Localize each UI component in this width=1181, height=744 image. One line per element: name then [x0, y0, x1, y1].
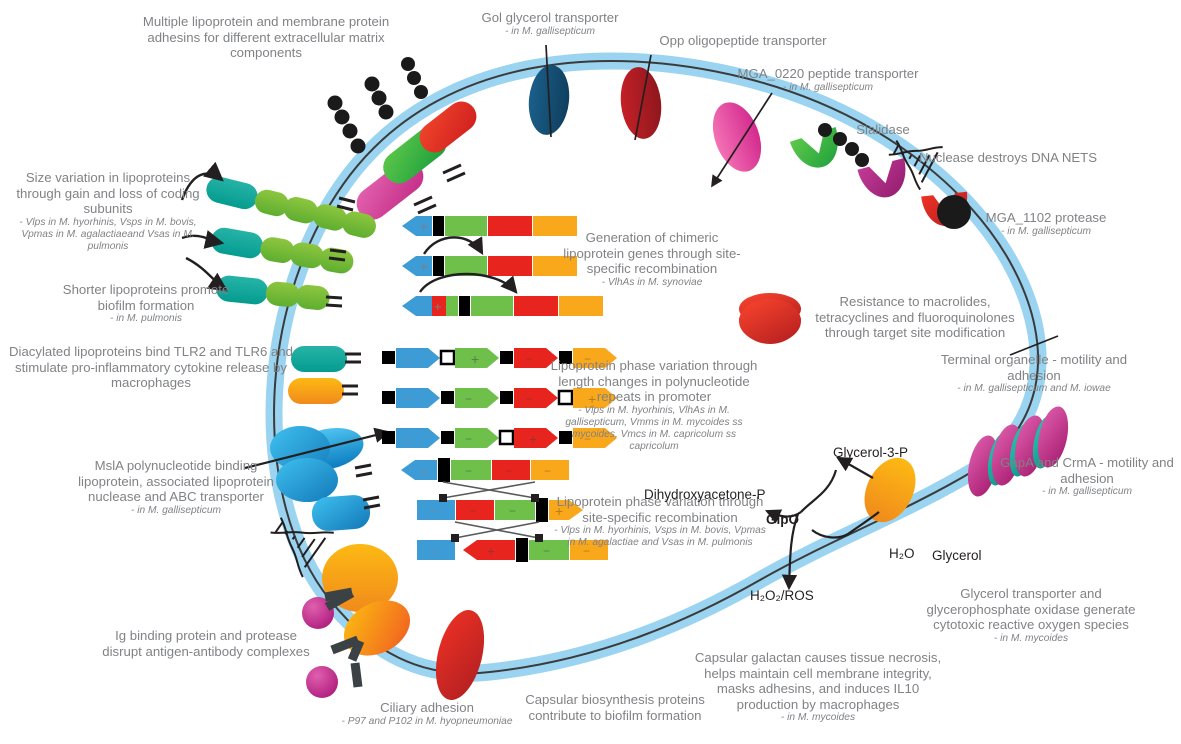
label-size-variation-title: Size variation in lipoproteins through g… — [12, 170, 204, 217]
label-diacylated-title: Diacylated lipoproteins bind TLR2 and TL… — [8, 344, 294, 391]
label-capsular-galactan-sub: - in M. mycoides — [690, 712, 946, 724]
label-phase-site-sub: - Vlps in M. hyorhinis, Vsps in M. bovis… — [552, 525, 768, 549]
label-adhesins-title: Multiple lipoprotein and membrane protei… — [142, 14, 390, 61]
label-gapa-crma: GapA and CrmA - motility and adhesion - … — [1000, 455, 1174, 498]
label-mga-0220-sub: - in M. gallisepticum — [722, 82, 934, 94]
svg-text:−: − — [543, 544, 550, 558]
label-mga-1102-sub: - in M. gallisepticum — [966, 226, 1126, 238]
svg-text:−: − — [509, 504, 516, 518]
figure-canvas: + + + — [0, 0, 1181, 744]
label-sialidase: Sialidase — [840, 122, 926, 138]
label-shorter-lipoproteins: Shorter lipoproteins promote biofilm for… — [56, 282, 236, 325]
label-capsular-galactan: Capsular galactan causes tissue necrosis… — [690, 650, 946, 724]
label-capsular-galactan-title: Capsular galactan causes tissue necrosis… — [690, 650, 946, 712]
label-mga-0220-title: MGA_0220 peptide transporter — [722, 66, 934, 82]
label-opp-transporter-title: Opp oligopeptide transporter — [650, 33, 836, 49]
label-terminal-organelle-title: Terminal organelle - motility and adhesi… — [940, 352, 1128, 383]
label-glycerol-transporter-title: Glycerol transporter and glycerophosphat… — [920, 586, 1142, 633]
label-resistance-title: Resistance to macrolides, tetracyclines … — [806, 294, 1024, 341]
label-msla-title: MslA polynucleotide binding lipoprotein,… — [70, 458, 282, 505]
svg-text:−: − — [469, 504, 476, 518]
enzyme-glpo: GlpO — [766, 512, 799, 527]
svg-text:−: − — [544, 464, 551, 478]
label-mga-1102: MGA_1102 protease - in M. gallisepticum — [966, 210, 1126, 238]
label-terminal-organelle: Terminal organelle - motility and adhesi… — [940, 352, 1128, 395]
label-phase-length-sub: - Vlps in M. hyorhinis, VlhAs in M. gall… — [546, 405, 762, 453]
label-capsular-biosynthesis: Capsular biosynthesis proteins contribut… — [510, 692, 720, 723]
label-gapa-crma-sub: - in M. gallisepticum — [1000, 486, 1174, 498]
label-chimeric-title: Generation of chimeric lipoprotein genes… — [560, 230, 744, 277]
label-gol-transporter-sub: - in M. gallisepticum — [466, 26, 634, 38]
label-ig-binding: Ig binding protein and protease disrupt … — [96, 628, 316, 659]
label-size-variation-sub: - Vlps in M. hyorhinis, Vsps in M. bovis… — [12, 217, 204, 253]
svg-text:+: + — [487, 543, 495, 559]
label-resistance: Resistance to macrolides, tetracyclines … — [806, 294, 1024, 341]
label-terminal-organelle-sub: - in M. gallisepticum and M. iowae — [940, 383, 1128, 395]
label-mga-1102-title: MGA_1102 protease — [966, 210, 1126, 226]
label-diacylated: Diacylated lipoproteins bind TLR2 and TL… — [8, 344, 294, 391]
label-phase-length-title: Lipoprotein phase variation through leng… — [546, 358, 762, 405]
svg-text:−: − — [505, 464, 512, 478]
svg-text:+: + — [420, 463, 428, 479]
label-ciliary-adhesion-sub: - P97 and P102 in M. hyopneumoniae — [320, 716, 534, 728]
molecule-glycerol-3p: Glycerol-3-P — [833, 445, 908, 460]
svg-text:−: − — [465, 464, 472, 478]
label-mga-0220: MGA_0220 peptide transporter - in M. gal… — [722, 66, 934, 94]
label-gol-transporter: Gol glycerol transporter - in M. gallise… — [466, 10, 634, 38]
label-size-variation: Size variation in lipoproteins through g… — [12, 170, 204, 253]
label-chimeric-sub: - VlhAs in M. synoviae — [560, 277, 744, 289]
label-adhesins: Multiple lipoprotein and membrane protei… — [142, 14, 390, 61]
molecule-dhap: Dihydroxyacetone-P — [644, 487, 766, 502]
label-msla-sub: - in M. gallisepticum — [70, 505, 282, 517]
label-ig-binding-title: Ig binding protein and protease disrupt … — [96, 628, 316, 659]
molecule-h2o2-ros: H₂O₂/ROS — [750, 588, 814, 603]
label-nuclease-title: Nuclease destroys DNA NETS — [902, 150, 1114, 166]
label-nuclease: Nuclease destroys DNA NETS — [902, 150, 1114, 166]
label-sialidase-title: Sialidase — [840, 122, 926, 138]
svg-text:−: − — [430, 544, 437, 558]
molecule-water: H₂O — [889, 546, 915, 561]
label-glycerol-transporter-sub: - in M. mycoides — [920, 633, 1142, 645]
label-ciliary-adhesion: Ciliary adhesion - P97 and P102 in M. hy… — [320, 700, 534, 728]
label-phase-site: Lipoprotein phase variation through site… — [552, 494, 768, 549]
gene-row: + − − − — [401, 458, 569, 482]
label-glycerol-transporter: Glycerol transporter and glycerophosphat… — [920, 586, 1142, 645]
molecule-glycerol: Glycerol — [932, 548, 982, 563]
label-msla: MslA polynucleotide binding lipoprotein,… — [70, 458, 282, 517]
label-opp-transporter: Opp oligopeptide transporter — [650, 33, 836, 49]
label-gapa-crma-title: GapA and CrmA - motility and adhesion — [1000, 455, 1174, 486]
label-phase-length: Lipoprotein phase variation through leng… — [546, 358, 762, 453]
label-shorter-lipoproteins-sub: - in M. pulmonis — [56, 313, 236, 325]
label-ciliary-adhesion-title: Ciliary adhesion — [320, 700, 534, 716]
label-capsular-biosynthesis-title: Capsular biosynthesis proteins contribut… — [510, 692, 720, 723]
label-shorter-lipoproteins-title: Shorter lipoproteins promote biofilm for… — [56, 282, 236, 313]
svg-text:−: − — [430, 504, 437, 518]
label-chimeric: Generation of chimeric lipoprotein genes… — [560, 230, 744, 289]
label-gol-transporter-title: Gol glycerol transporter — [466, 10, 634, 26]
